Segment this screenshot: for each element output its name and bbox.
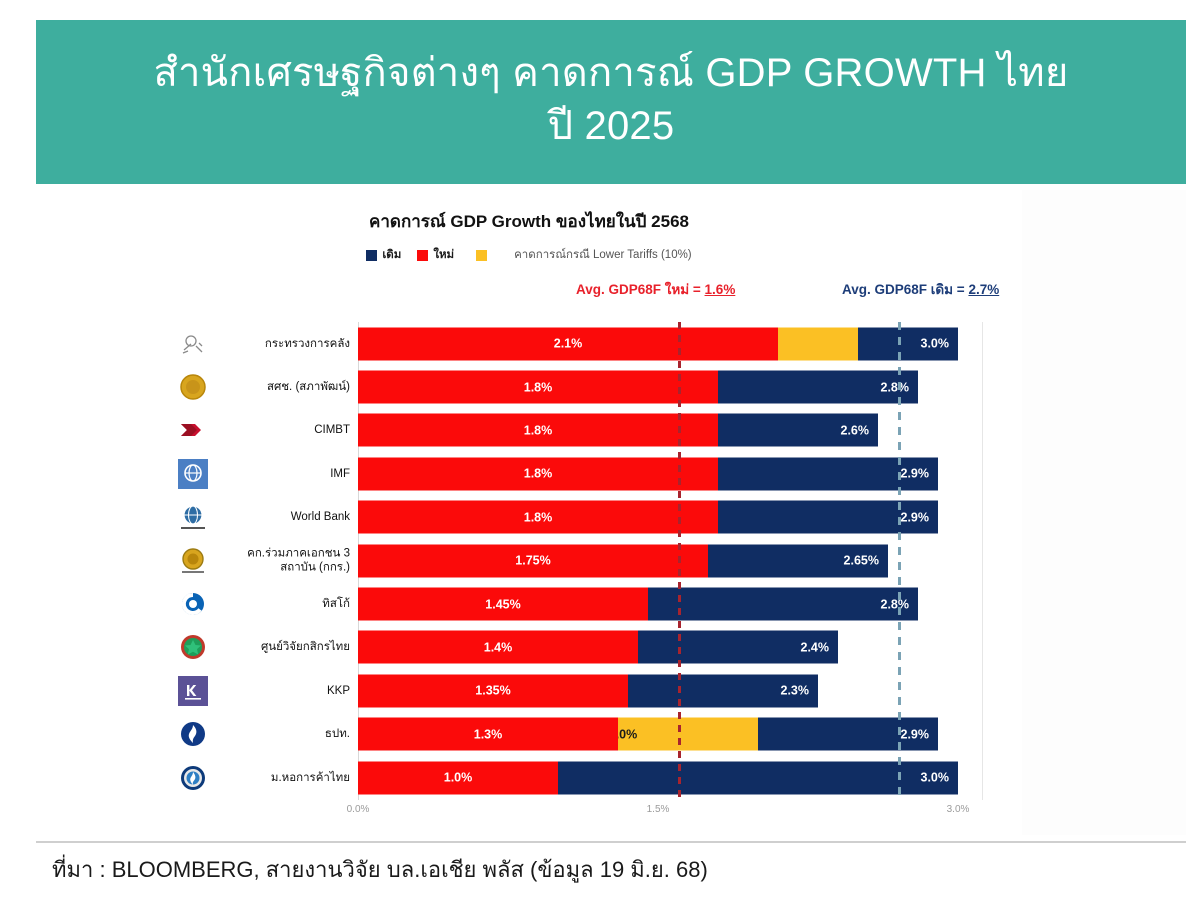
avg-old-annotation: Avg. GDP68F เดิม = 2.7% bbox=[842, 278, 999, 300]
bar-track: 2.65%1.75% bbox=[358, 544, 982, 577]
bar-rows: กระทรวงการคลัง3.0%2.5%2.1%สศช. (สภาพัฒน์… bbox=[36, 322, 1022, 799]
row-label: CIMBT bbox=[218, 423, 350, 437]
chart-row: คก.ร่วมภาคเอกชน 3 สถาบัน (กกร.)2.65%1.75… bbox=[36, 539, 1022, 582]
chart-row: ทิสโก้2.8%1.45% bbox=[36, 582, 1022, 625]
bar-segment-new: 2.1% bbox=[358, 327, 778, 360]
kasikorn-research-logo bbox=[172, 630, 214, 664]
bar-track: 2.8%1.8% bbox=[358, 371, 982, 404]
legend-item-new: ใหม่ bbox=[417, 246, 454, 264]
source-footer: ที่มา : BLOOMBERG, สายงานวิจัย บล.เอเชีย… bbox=[52, 852, 708, 887]
row-label: ม.หอการค้าไทย bbox=[218, 770, 350, 784]
chart-row: กระทรวงการคลัง3.0%2.5%2.1% bbox=[36, 322, 1022, 365]
legend-item-tariff: คาดการณ์กรณี Lower Tariffs (10%) bbox=[476, 246, 692, 264]
row-label: คก.ร่วมภาคเอกชน 3 สถาบัน (กกร.) bbox=[218, 546, 350, 575]
chart-row: CIMBT2.6%1.8% bbox=[36, 409, 1022, 452]
bar-segment-new: 1.45% bbox=[358, 588, 648, 621]
avg-new-reference-line bbox=[678, 322, 681, 800]
bar-segment-new: 1.8% bbox=[358, 501, 718, 534]
legend-label-new: ใหม่ bbox=[433, 246, 454, 264]
row-label: ทิสโก้ bbox=[218, 597, 350, 611]
x-axis-tick: 0.0% bbox=[347, 804, 370, 815]
legend-label-tariff: คาดการณ์กรณี Lower Tariffs (10%) bbox=[514, 246, 692, 264]
row-label: ธปท. bbox=[218, 727, 350, 741]
chart-row: ธปท.2.9%2.0%1.3% bbox=[36, 713, 1022, 756]
legend-label-old: เดิม bbox=[382, 246, 401, 264]
kkp-logo bbox=[172, 674, 214, 708]
bar-segment-new: 1.0% bbox=[358, 761, 558, 794]
bar-track: 2.9%1.8% bbox=[358, 457, 982, 490]
bar-segment-new: 1.3% bbox=[358, 718, 618, 751]
avg-old-value: 2.7% bbox=[968, 282, 999, 297]
nesdc-logo bbox=[172, 370, 214, 404]
chart-row: ศูนย์วิจัยกสิกรไทย2.4%1.4% bbox=[36, 626, 1022, 669]
bar-track: 2.3%1.35% bbox=[358, 674, 982, 707]
avg-old-reference-line bbox=[898, 322, 901, 800]
legend-swatch-old-icon bbox=[366, 250, 377, 261]
world-bank-logo bbox=[172, 500, 214, 534]
legend-swatch-new-icon bbox=[417, 250, 428, 261]
bar-track: 2.8%1.45% bbox=[358, 588, 982, 621]
row-label: World Bank bbox=[218, 510, 350, 524]
ministry-of-finance-logo bbox=[172, 327, 214, 361]
avg-new-prefix: Avg. GDP68F ใหม่ = bbox=[576, 282, 705, 297]
bar-track: 3.0%1.0% bbox=[358, 761, 982, 794]
bank-of-thailand-logo bbox=[172, 717, 214, 751]
bar-track: 3.0%2.5%2.1% bbox=[358, 327, 982, 360]
row-label: IMF bbox=[218, 467, 350, 481]
row-label: สศช. (สภาพัฒน์) bbox=[218, 380, 350, 394]
avg-new-value: 1.6% bbox=[705, 282, 736, 297]
chart-card: คาดการณ์ GDP Growth ของไทยในปี 2568 เดิม… bbox=[36, 190, 1022, 835]
bar-segment-new: 1.8% bbox=[358, 414, 718, 447]
utcc-logo bbox=[172, 761, 214, 795]
plot-area: กระทรวงการคลัง3.0%2.5%2.1%สศช. (สภาพัฒน์… bbox=[36, 322, 1022, 812]
avg-old-prefix: Avg. GDP68F เดิม = bbox=[842, 282, 968, 297]
title-banner: สำนักเศรษฐกิจต่างๆ คาดการณ์ GDP GROWTH ไ… bbox=[36, 20, 1186, 184]
footer-divider bbox=[36, 841, 1186, 843]
bar-segment-new: 1.8% bbox=[358, 457, 718, 490]
bar-track: 2.4%1.4% bbox=[358, 631, 982, 664]
bar-track: 2.6%1.8% bbox=[358, 414, 982, 447]
x-axis: 0.0%1.5%3.0% bbox=[36, 804, 1022, 824]
avg-new-annotation: Avg. GDP68F ใหม่ = 1.6% bbox=[576, 278, 735, 300]
chart-legend: เดิม ใหม่ คาดการณ์กรณี Lower Tariffs (10… bbox=[36, 246, 1022, 264]
row-label: KKP bbox=[218, 684, 350, 698]
imf-logo bbox=[172, 457, 214, 491]
bar-track: 2.9%2.0%1.3% bbox=[358, 718, 982, 751]
chart-row: ม.หอการค้าไทย3.0%1.0% bbox=[36, 756, 1022, 799]
bar-segment-new: 1.35% bbox=[358, 674, 628, 707]
chart-row: World Bank2.9%1.8% bbox=[36, 496, 1022, 539]
x-axis-tick: 1.5% bbox=[647, 804, 670, 815]
chart-row: IMF2.9%1.8% bbox=[36, 452, 1022, 495]
bar-segment-new: 1.75% bbox=[358, 544, 708, 577]
chart-row: KKP2.3%1.35% bbox=[36, 669, 1022, 712]
row-label: ศูนย์วิจัยกสิกรไทย bbox=[218, 640, 350, 654]
chart-row: สศช. (สภาพัฒน์)2.8%1.8% bbox=[36, 365, 1022, 408]
bar-track: 2.9%1.8% bbox=[358, 501, 982, 534]
tisco-logo bbox=[172, 587, 214, 621]
bar-segment-new: 1.4% bbox=[358, 631, 638, 664]
x-axis-tick: 3.0% bbox=[947, 804, 970, 815]
legend-item-old: เดิม bbox=[366, 246, 401, 264]
bar-segment-new: 1.8% bbox=[358, 371, 718, 404]
slide-page: สำนักเศรษฐกิจต่างๆ คาดการณ์ GDP GROWTH ไ… bbox=[0, 0, 1200, 903]
row-label: กระทรวงการคลัง bbox=[218, 337, 350, 351]
chart-title: คาดการณ์ GDP Growth ของไทยในปี 2568 bbox=[36, 208, 1022, 235]
jsccib-logo bbox=[172, 544, 214, 578]
cimbt-logo bbox=[172, 413, 214, 447]
legend-swatch-tariff-icon bbox=[476, 250, 487, 261]
page-title: สำนักเศรษฐกิจต่างๆ คาดการณ์ GDP GROWTH ไ… bbox=[154, 47, 1069, 153]
